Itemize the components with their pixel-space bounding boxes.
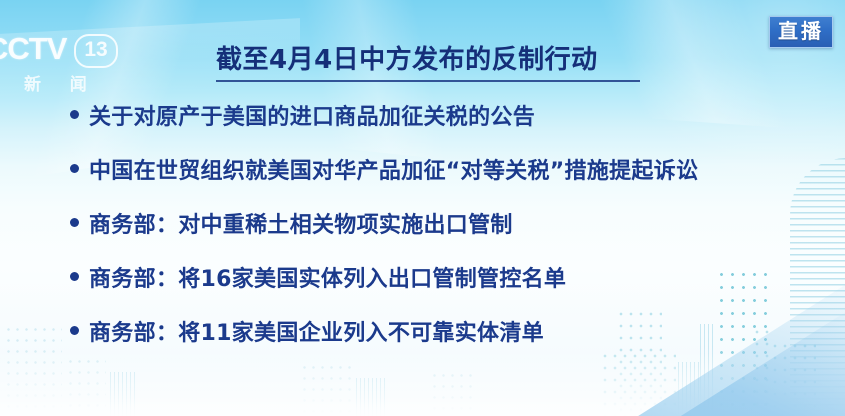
headline-block: 截至4月4日中方发布的反制行动	[216, 44, 640, 82]
list-item: 商务部：将11家美国企业列入不可靠实体清单	[70, 320, 830, 374]
headline-underline	[216, 80, 640, 82]
bullet-dot-icon	[70, 272, 79, 281]
list-item-label: 商务部：将16家美国实体列入出口管制管控名单	[89, 266, 566, 294]
list-item-label: 商务部：将11家美国企业列入不可靠实体清单	[89, 320, 544, 348]
list-item-label: 商务部：对中重稀土相关物项实施出口管制	[89, 212, 513, 240]
list-item: 中国在世贸组织就美国对华产品加征“对等关税”措施提起诉讼	[70, 158, 830, 212]
cctv-channel-name: 新 闻	[24, 70, 99, 95]
skyline-building	[4, 324, 62, 416]
list-item: 关于对原产于美国的进口商品加征关税的公告	[70, 104, 830, 158]
skyline-building	[356, 378, 386, 416]
list-item-label: 中国在世贸组织就美国对华产品加征“对等关税”措施提起诉讼	[89, 158, 698, 186]
measures-list: 关于对原产于美国的进口商品加征关税的公告 中国在世贸组织就美国对华产品加征“对等…	[70, 104, 830, 374]
page-title: 截至4月4日中方发布的反制行动	[216, 44, 640, 76]
cctv-wordmark: CCTV	[0, 32, 66, 66]
skyline-building	[110, 372, 136, 416]
bullet-dot-icon	[70, 164, 79, 173]
bullet-dot-icon	[70, 218, 79, 227]
cctv-channel-number: 13	[74, 34, 118, 68]
bullet-dot-icon	[70, 110, 79, 119]
list-item: 商务部：将16家美国实体列入出口管制管控名单	[70, 266, 830, 320]
broadcast-lower-third-graphic: CCTV 13 新 闻 直播 截至4月4日中方发布的反制行动 关于对原产于美国的…	[0, 0, 845, 416]
bullet-dot-icon	[70, 326, 79, 335]
live-badge: 直播	[769, 16, 833, 48]
list-item: 商务部：对中重稀土相关物项实施出口管制	[70, 212, 830, 266]
list-item-label: 关于对原产于美国的进口商品加征关税的公告	[89, 104, 535, 132]
skyline-building	[430, 370, 474, 416]
cctv-channel-logo: CCTV 13 新 闻	[0, 32, 118, 94]
